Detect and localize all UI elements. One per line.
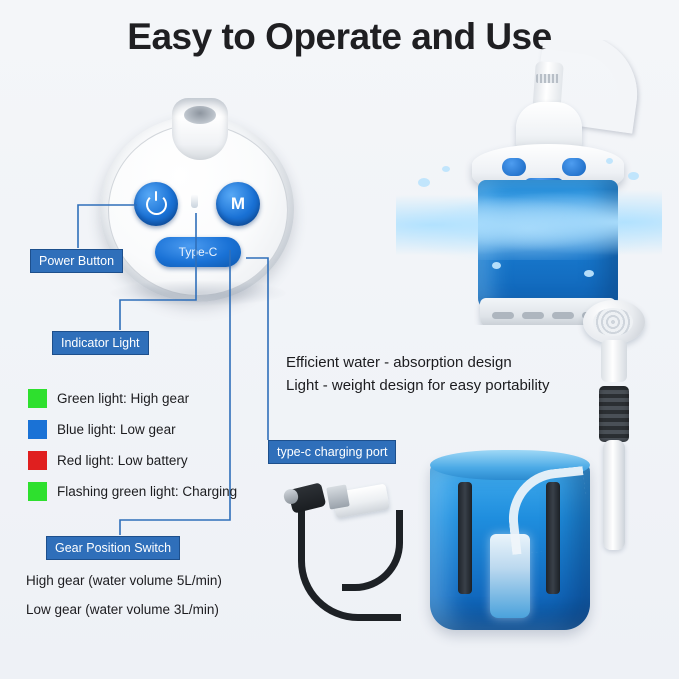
- callout-type-c-port: type-c charging port: [268, 440, 396, 464]
- shower-handle-shape: [603, 440, 625, 550]
- legend-label: Red light: Low battery: [57, 453, 188, 468]
- bucket-strap: [458, 482, 472, 594]
- pump-head-top-view-photo: M Type-C: [92, 98, 302, 313]
- callout-power-button: Power Button: [30, 249, 123, 273]
- description-line-1: Efficient water - absorption design: [286, 351, 596, 374]
- water-droplet: [606, 158, 613, 164]
- hose-grip-shape: [536, 74, 560, 83]
- callout-gear-position-switch: Gear Position Switch: [46, 536, 180, 560]
- vent-slot: [492, 312, 514, 319]
- gear-note-low: Low gear (water volume 3L/min): [26, 602, 219, 617]
- shower-neck-shape: [601, 340, 627, 382]
- list-item: Blue light: Low gear: [28, 414, 268, 445]
- feature-description: Efficient water - absorption design Ligh…: [286, 351, 596, 397]
- list-item: Red light: Low battery: [28, 445, 268, 476]
- water-droplet: [442, 166, 450, 172]
- power-icon: [146, 194, 167, 215]
- description-line-2: Light - weight design for easy portabili…: [286, 374, 596, 397]
- water-droplet: [418, 178, 430, 187]
- pump-submerged-in-water-photo: [396, 40, 662, 325]
- pump-nozzle-opening: [184, 106, 216, 124]
- legend-label: Blue light: Low gear: [57, 422, 176, 437]
- water-splash-shape: [396, 190, 662, 260]
- infographic-page: Easy to Operate and Use M Type-C Power B…: [0, 0, 679, 679]
- pump-drop-shadow: [110, 280, 286, 306]
- type-c-port[interactable]: Type-C: [155, 237, 241, 267]
- pump-button-power-small: [502, 158, 526, 176]
- water-droplet: [584, 270, 594, 277]
- power-button[interactable]: [134, 182, 178, 226]
- list-item: Green light: High gear: [28, 383, 268, 414]
- indicator-light-legend: Green light: High gear Blue light: Low g…: [28, 383, 268, 507]
- water-droplet: [492, 262, 501, 269]
- legend-label: Green light: High gear: [57, 391, 189, 406]
- water-droplet: [628, 172, 639, 180]
- shower-face-nozzles: [593, 308, 633, 336]
- list-item: Flashing green light: Charging: [28, 476, 268, 507]
- shower-grip-shape: [599, 386, 629, 442]
- swatch-flashing-green-charging: [28, 482, 47, 501]
- led-indicator-icon: [191, 194, 198, 208]
- swatch-red-low-battery: [28, 451, 47, 470]
- usb-a-to-type-c-cable-photo: [282, 472, 412, 630]
- gear-note-high: High gear (water volume 5L/min): [26, 573, 222, 588]
- mode-button[interactable]: M: [216, 182, 260, 226]
- collapsible-water-bucket-photo: [420, 442, 600, 644]
- usb-a-metal-tip: [326, 484, 350, 509]
- callout-indicator-light: Indicator Light: [52, 331, 149, 355]
- swatch-green-high-gear: [28, 389, 47, 408]
- swatch-blue-low-gear: [28, 420, 47, 439]
- pump-button-mode-small: [562, 158, 586, 176]
- vent-slot: [522, 312, 544, 319]
- legend-label: Flashing green light: Charging: [57, 484, 237, 499]
